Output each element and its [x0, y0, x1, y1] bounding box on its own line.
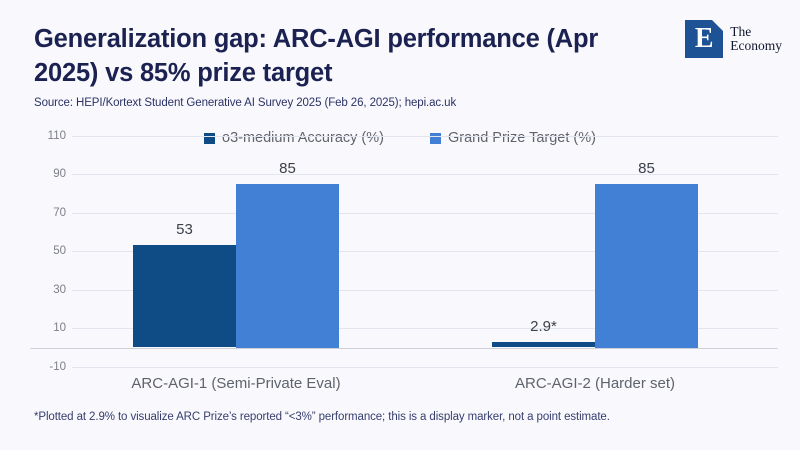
x-axis-category-label: ARC-AGI-1 (Semi-Private Eval) [131, 375, 340, 392]
chart-legend: o3-medium Accuracy (%) Grand Prize Targe… [0, 130, 800, 146]
legend-item-grand-prize[interactable]: Grand Prize Target (%) [430, 130, 596, 146]
legend-swatch-icon [204, 133, 215, 144]
bar-value-label: 85 [279, 160, 296, 177]
bar[interactable] [133, 245, 236, 347]
gridline [72, 174, 778, 175]
bar[interactable] [595, 184, 698, 348]
logo-line-1: The [730, 25, 782, 40]
x-axis-category-label: ARC-AGI-2 (Harder set) [515, 375, 675, 392]
y-axis-tick-label: 30 [6, 284, 66, 296]
x-axis-line [30, 348, 778, 349]
bar-value-label: 2.9* [530, 318, 557, 335]
legend-label: Grand Prize Target (%) [448, 130, 596, 146]
chart-page: Generalization gap: ARC-AGI performance … [0, 0, 800, 450]
logo-e-icon: E [685, 20, 723, 58]
logo-letter: E [695, 25, 714, 53]
legend-label: o3-medium Accuracy (%) [222, 130, 384, 146]
chart-header: Generalization gap: ARC-AGI performance … [0, 0, 800, 120]
y-axis-tick-label: 50 [6, 245, 66, 257]
y-axis-tick-label: 70 [6, 207, 66, 219]
legend-swatch-icon [430, 133, 441, 144]
y-axis-tick-label: 10 [6, 322, 66, 334]
bar-value-label: 53 [176, 221, 193, 238]
source-note: Source: HEPI/Kortext Student Generative … [34, 97, 456, 109]
bar[interactable] [236, 184, 339, 348]
gridline [72, 328, 778, 329]
page-title: Generalization gap: ARC-AGI performance … [34, 22, 634, 90]
chart-footnote: *Plotted at 2.9% to visualize ARC Prize’… [34, 411, 610, 423]
brand-logo: E The Economy [685, 20, 782, 58]
y-axis-tick-label: -10 [6, 361, 66, 373]
gridline [72, 251, 778, 252]
gridline [72, 290, 778, 291]
gridline [72, 367, 778, 368]
gridline [72, 213, 778, 214]
bar-value-label: 85 [638, 160, 655, 177]
legend-item-o3-medium[interactable]: o3-medium Accuracy (%) [204, 130, 384, 146]
bar[interactable] [492, 342, 595, 348]
y-axis-tick-label: 90 [6, 168, 66, 180]
logo-line-2: Economy [730, 39, 782, 54]
logo-wordmark: The Economy [730, 25, 782, 54]
